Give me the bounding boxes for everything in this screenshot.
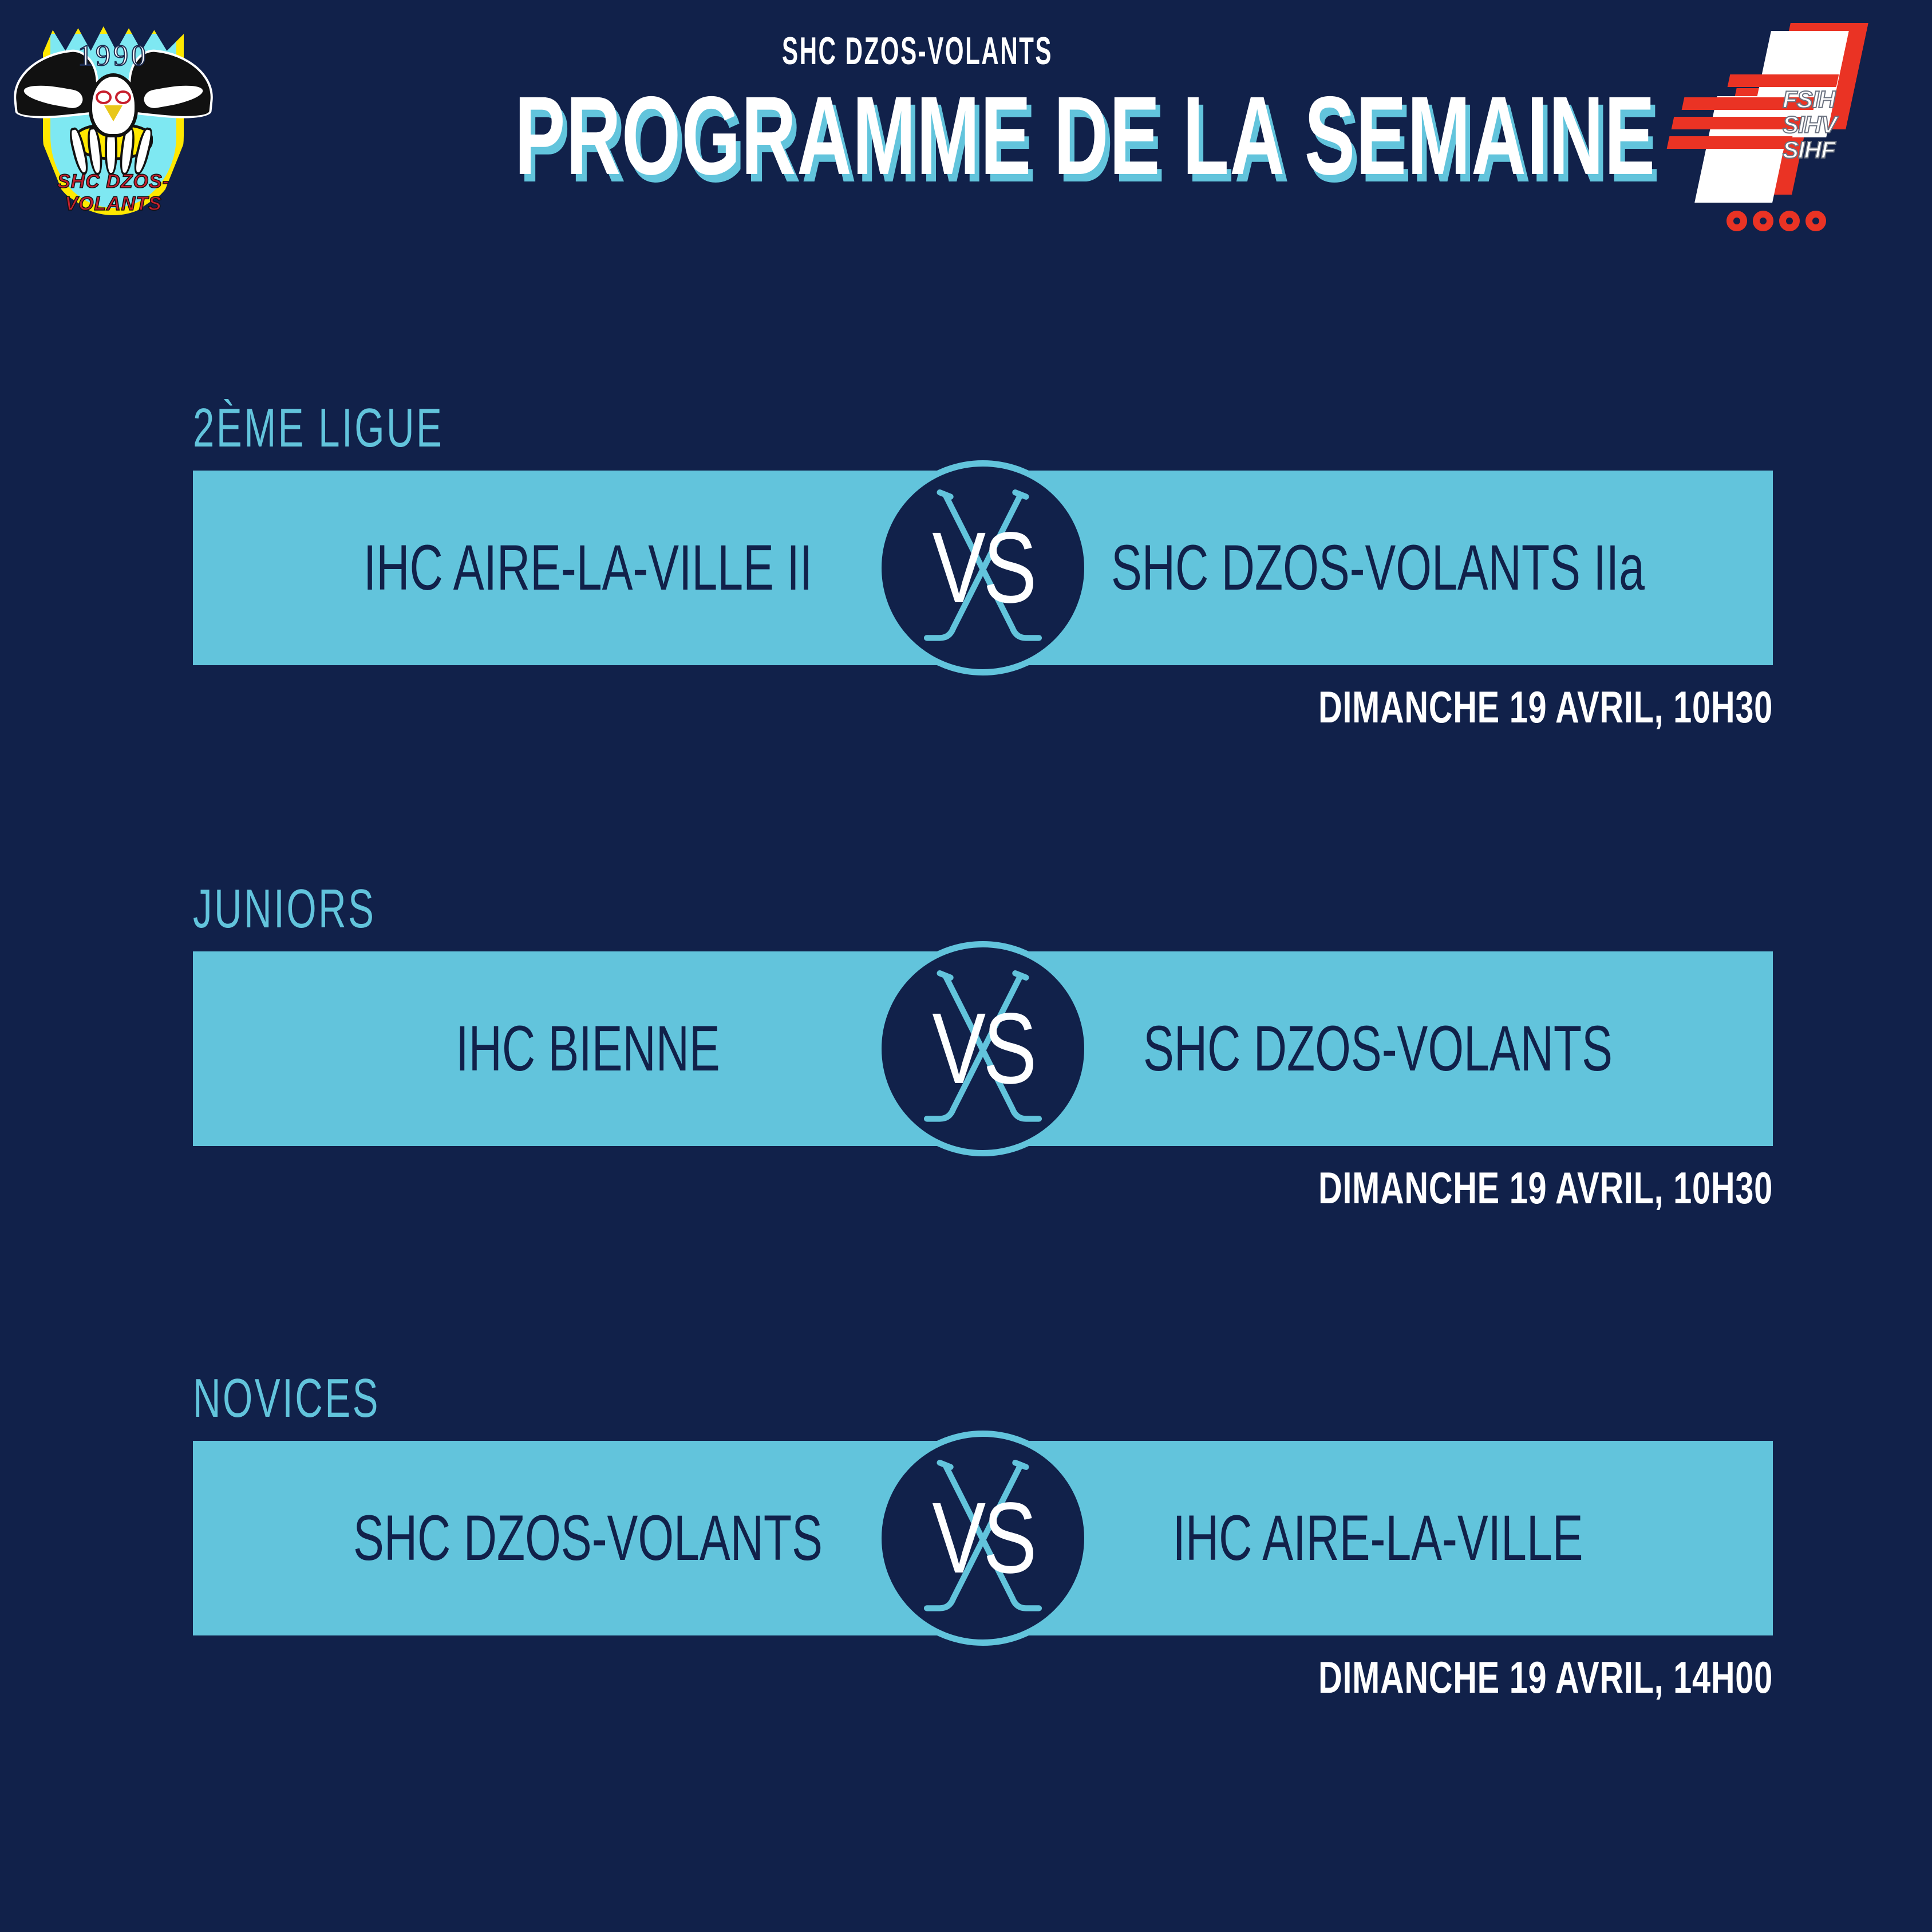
- match-section-juniors: JUNIORS IHC BIENNE SHC DZOS-VOLANTS VS D…: [193, 882, 1773, 1146]
- vs-badge: VS: [875, 460, 1091, 675]
- owl-beak: [104, 105, 123, 121]
- match-row: IHC AIRE-LA-VILLE II SHC DZOS-VOLANTS II…: [193, 471, 1773, 665]
- section-label: 2ÈME LIGUE: [193, 401, 1299, 456]
- owl-eye-left: [96, 90, 112, 104]
- match-row: SHC DZOS-VOLANTS IHC AIRE-LA-VILLE VS DI…: [193, 1441, 1773, 1635]
- skate-wheel-4: [1805, 211, 1826, 231]
- home-team-name: IHC BIENNE: [303, 1012, 872, 1086]
- federation-acronyms: FSIH SIHV SIHF: [1783, 87, 1836, 163]
- header-subtitle: SHC DZOS-VOLANTS: [501, 29, 1334, 73]
- owl-head-icon: [89, 73, 138, 137]
- speed-stripe-4: [1667, 136, 1793, 149]
- vs-label: VS: [932, 1488, 1034, 1589]
- owl-eye-right: [115, 90, 131, 104]
- vs-badge: VS: [875, 941, 1091, 1156]
- section-label: JUNIORS: [193, 882, 1299, 937]
- away-team-name: SHC DZOS-VOLANTS: [1093, 1012, 1662, 1086]
- section-label: NOVICES: [193, 1371, 1299, 1426]
- federation-logo: FSIH SIHV SIHF: [1660, 13, 1889, 236]
- speed-stripe-1: [1728, 74, 1839, 87]
- weekly-program-poster: 1990 SHC DZOS-VOLANTS: [0, 0, 1932, 1932]
- away-team-name: SHC DZOS-VOLANTS IIa: [1093, 531, 1662, 605]
- federation-acronym-sihf: SIHF: [1783, 137, 1836, 163]
- match-date: DIMANCHE 19 AVRIL, 14H00: [1318, 1652, 1773, 1704]
- match-date: DIMANCHE 19 AVRIL, 10H30: [1318, 681, 1773, 733]
- away-team-name: IHC AIRE-LA-VILLE: [1093, 1502, 1662, 1575]
- home-team-name: IHC AIRE-LA-VILLE II: [303, 531, 872, 605]
- skate-wheel-2: [1753, 211, 1773, 231]
- page-title: PROGRAMME DE LA SEMAINE: [515, 80, 1656, 192]
- vs-label: VS: [932, 998, 1034, 1099]
- federation-acronym-sihv: SIHV: [1783, 112, 1836, 137]
- match-date: DIMANCHE 19 AVRIL, 10H30: [1318, 1162, 1773, 1214]
- match-section-novices: NOVICES SHC DZOS-VOLANTS IHC AIRE-LA-VIL…: [193, 1371, 1773, 1635]
- club-crest-logo: 1990 SHC DZOS-VOLANTS: [10, 6, 216, 229]
- match-section-2eme-ligue: 2ÈME LIGUE IHC AIRE-LA-VILLE II SHC DZOS…: [193, 401, 1773, 665]
- vs-badge: VS: [875, 1431, 1091, 1646]
- page-title-wrapper: PROGRAMME DE LA SEMAINE: [246, 80, 1589, 195]
- skate-wheel-1: [1726, 211, 1747, 231]
- skate-wheels-icon: [1726, 211, 1826, 231]
- federation-acronym-fsih: FSIH: [1783, 87, 1836, 112]
- skate-wheel-3: [1779, 211, 1800, 231]
- crest-founding-year: 1990: [10, 39, 216, 73]
- crest-club-name: SHC DZOS-VOLANTS: [10, 171, 216, 215]
- vs-label: VS: [932, 517, 1034, 618]
- home-team-name: SHC DZOS-VOLANTS: [303, 1502, 872, 1575]
- poster-header: 1990 SHC DZOS-VOLANTS: [0, 0, 1932, 252]
- match-row: IHC BIENNE SHC DZOS-VOLANTS VS DIMANCHE …: [193, 951, 1773, 1146]
